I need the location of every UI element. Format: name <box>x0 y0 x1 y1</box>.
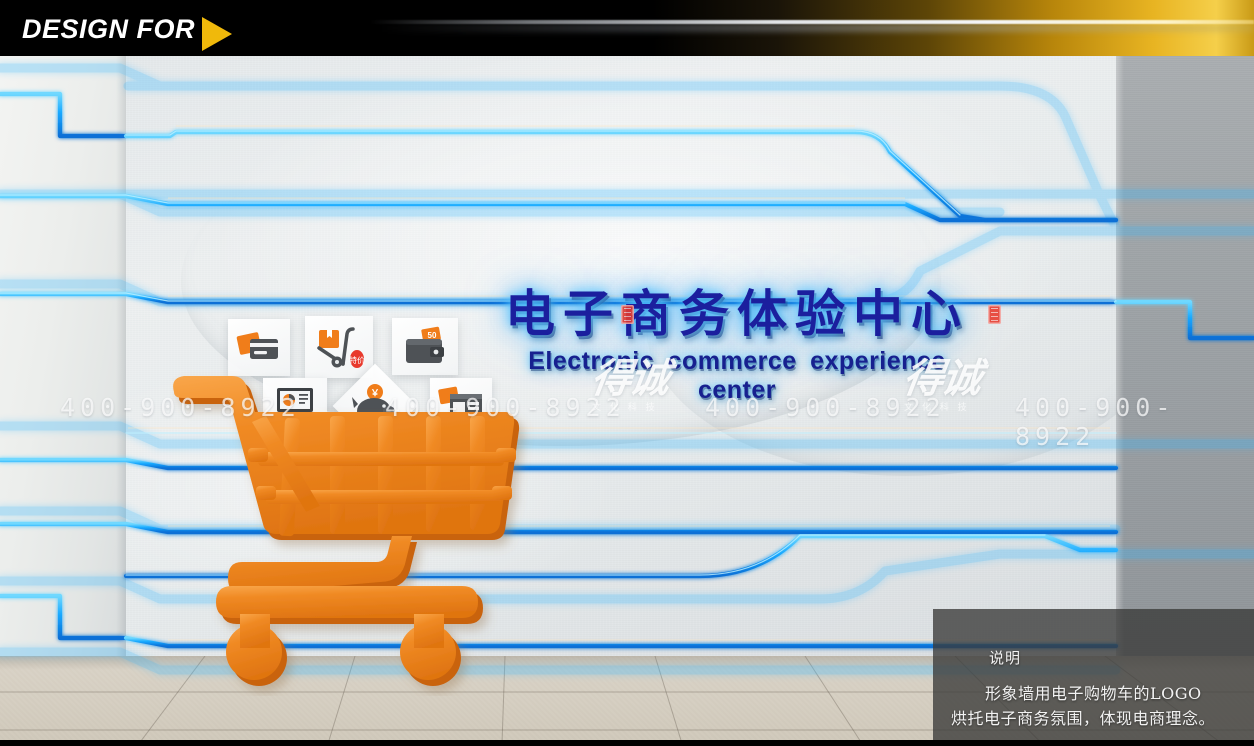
banner-silver-streak <box>370 20 1254 24</box>
wall-title-block: 电子商务体验中心 Electronic commerce experience … <box>492 288 982 405</box>
brand-text: DESIGN FOR <box>22 16 195 43</box>
title-chinese: 电子商务体验中心 <box>492 288 982 341</box>
description-line-1: 形象墙用电子购物车的LOGO <box>951 682 1236 707</box>
shopping-cart-svg <box>170 356 550 696</box>
description-line-2: 烘托电子商务氛围，体现电商理念。 <box>951 709 1215 728</box>
top-banner: DESIGN FOR <box>0 0 1254 56</box>
title-english: Electronic commerce experience center <box>492 347 982 405</box>
brand-logo: DESIGN FOR <box>22 7 232 51</box>
seal-stamp-2 <box>988 305 1001 324</box>
svg-text:50: 50 <box>428 331 437 340</box>
description-body: 形象墙用电子购物车的LOGO 烘托电子商务氛围，体现电商理念。 <box>951 682 1236 732</box>
left-side-wall <box>0 56 126 688</box>
seal-stamp-1 <box>621 305 634 324</box>
play-triangle-icon <box>202 17 232 51</box>
design-board: DESIGN FOR <box>0 0 1254 746</box>
bottom-border <box>0 740 1254 746</box>
right-wall-panel <box>1116 56 1254 668</box>
wall-texture-right <box>1116 56 1254 668</box>
shopping-cart-logo <box>170 356 550 696</box>
description-heading: 说明 <box>989 647 1236 668</box>
exhibition-room: 特价 50 <box>0 56 1254 746</box>
description-panel: 说明 形象墙用电子购物车的LOGO 烘托电子商务氛围，体现电商理念。 <box>933 609 1254 746</box>
banner-silver-blur <box>380 24 1254 32</box>
